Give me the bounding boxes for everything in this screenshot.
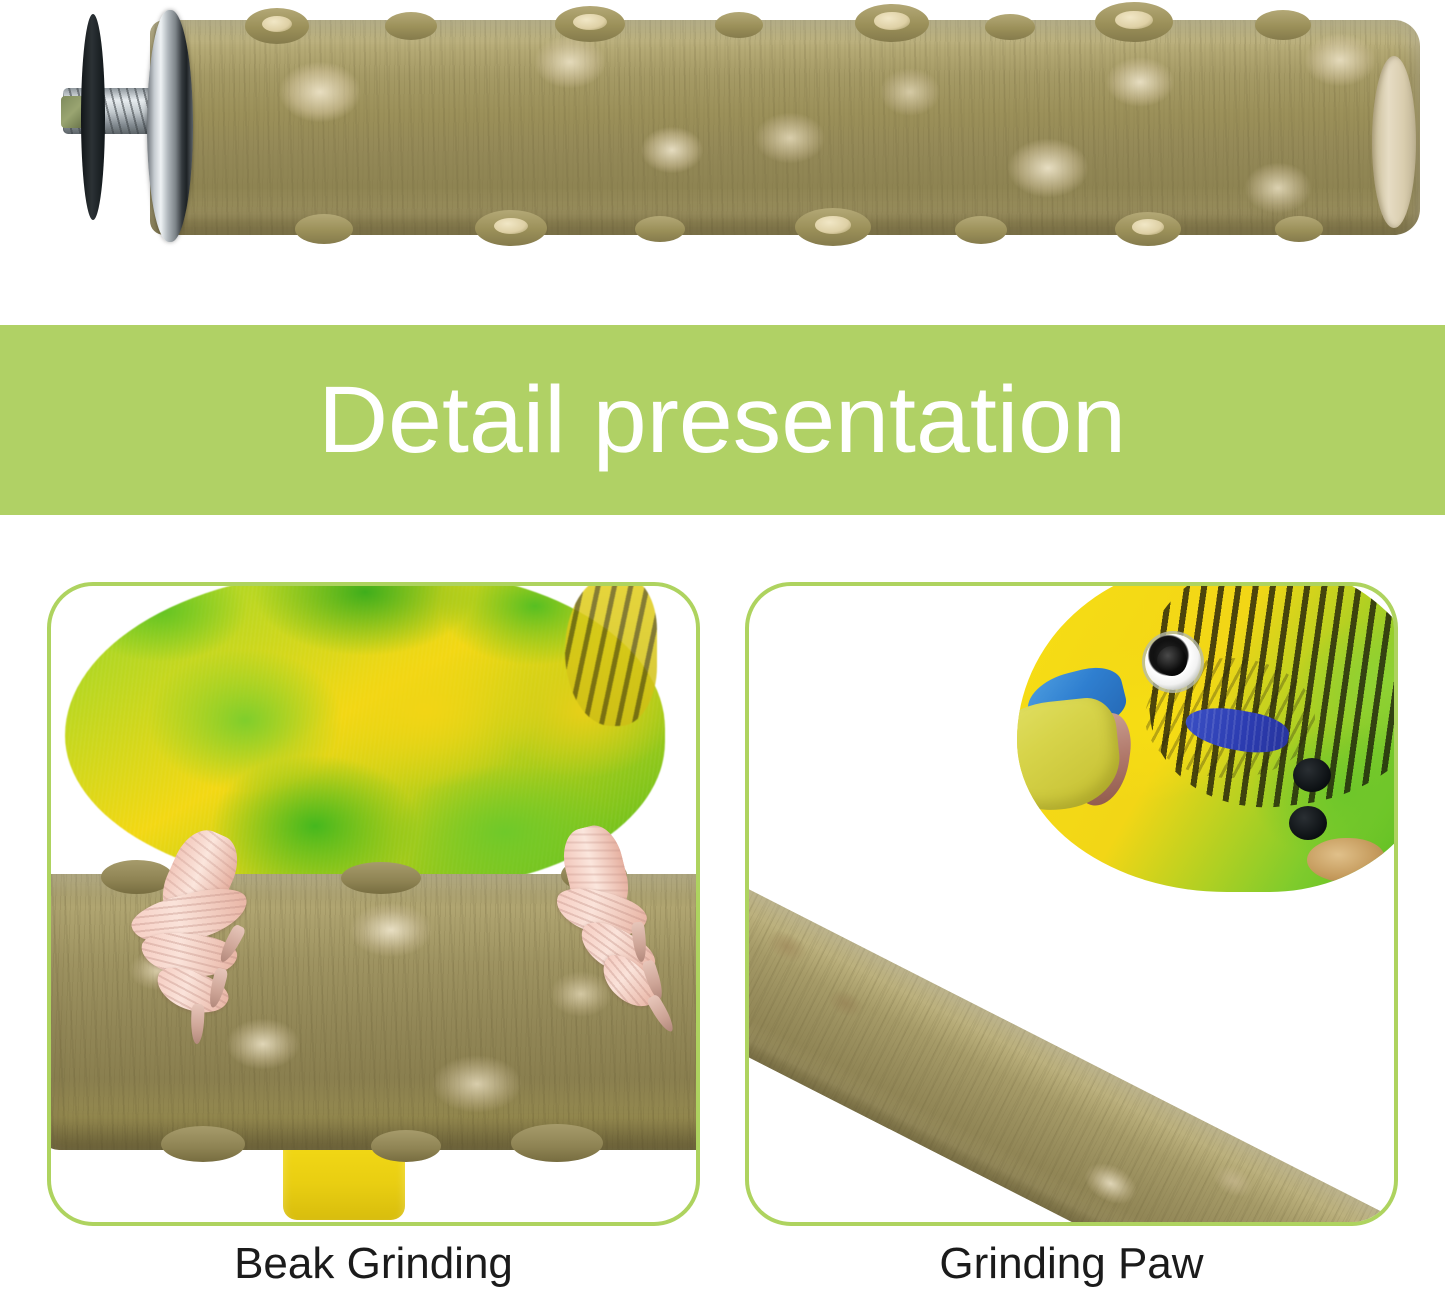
caption-grinding-paw: Grinding Paw — [745, 1236, 1398, 1292]
caption-beak-grinding: Beak Grinding — [47, 1236, 700, 1292]
diagonal-wood-perch — [745, 830, 1398, 1226]
mounting-flange — [147, 10, 193, 242]
flange-inner-ring — [81, 14, 105, 220]
wood-knob-icon — [245, 8, 309, 44]
budgie-throat-spot — [1289, 806, 1327, 840]
budgie-head — [1017, 582, 1398, 892]
budgie-seed-crumb — [1307, 838, 1385, 882]
budgie-throat-spot — [1293, 758, 1331, 792]
wood-knob-icon — [1095, 2, 1173, 42]
wood-knob-icon — [385, 12, 437, 40]
wood-knob-icon — [985, 14, 1035, 40]
budgie-right-foot — [537, 832, 700, 1022]
product-detail-infographic: Detail presentation — [0, 0, 1445, 1292]
wood-perch-log — [150, 20, 1420, 235]
budgie-wing-barring — [565, 582, 657, 726]
wood-knob-icon — [511, 1124, 603, 1162]
wood-knob-icon — [635, 216, 685, 242]
wood-cut-end — [1372, 56, 1416, 228]
banner-title-text: Detail presentation — [319, 373, 1127, 468]
wood-knob-icon — [295, 214, 353, 244]
budgie-eye-pupil — [1157, 646, 1187, 676]
wood-knob-icon — [955, 216, 1007, 244]
wood-knob-icon — [555, 6, 625, 42]
perch-assembly — [55, 2, 1375, 252]
budgie-left-foot — [107, 832, 337, 1032]
wood-knob-icon — [855, 4, 929, 42]
detail-card-beak-grinding — [47, 582, 700, 1226]
wood-knob-icon — [795, 208, 871, 246]
detail-cards-row — [0, 582, 1445, 1228]
wood-knob-icon — [1255, 10, 1311, 40]
section-title-banner: Detail presentation — [0, 325, 1445, 515]
budgie-eye — [1145, 634, 1201, 690]
wood-knob-icon — [161, 1126, 245, 1162]
hero-product-photo — [0, 0, 1445, 322]
wood-knob-icon — [1275, 216, 1323, 242]
wood-knob-icon — [341, 862, 421, 894]
wood-knob-icon — [715, 12, 763, 38]
wood-knob-icon — [371, 1130, 441, 1162]
wood-knob-icon — [475, 210, 547, 246]
wood-knob-icon — [1115, 212, 1181, 246]
detail-card-grinding-paw — [745, 582, 1398, 1226]
